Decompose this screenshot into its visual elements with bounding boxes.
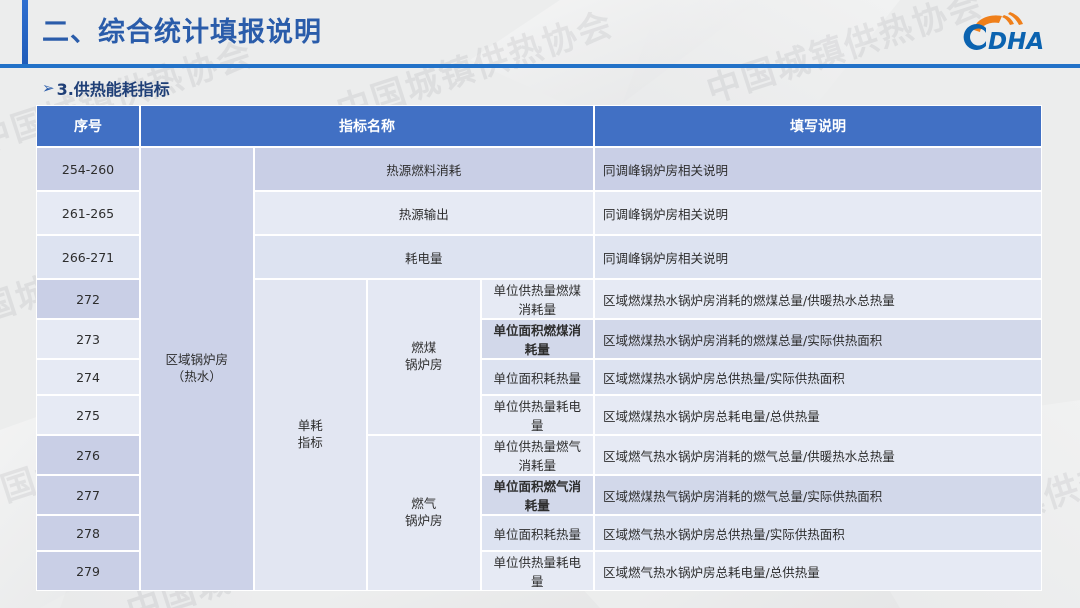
column-header-no: 序号 (36, 105, 140, 147)
table-header-row: 序号 指标名称 填写说明 (36, 105, 1042, 147)
cell-desc: 区域燃气热水锅炉房总耗电量/总供热量 (594, 551, 1042, 591)
cell-no: 275 (36, 395, 140, 435)
cell-desc: 区域燃煤热水锅炉房消耗的燃煤总量/供暖热水总热量 (594, 279, 1042, 319)
cdha-logo: DHA (942, 8, 1062, 58)
section-heading: ➢ 3.供热能耗指标 (42, 76, 170, 100)
cell-group-coal-boiler: 燃煤锅炉房 (367, 279, 481, 435)
cell-name: 单位面积耗热量 (481, 515, 595, 551)
cell-name: 单位供热量燃煤消耗量 (481, 279, 595, 319)
energy-indicator-table: 序号 指标名称 填写说明 254-260 区域锅炉房（热水） 热源燃料消耗 同调… (36, 105, 1042, 591)
cell-desc: 区域燃煤热水锅炉房总耗电量/总供热量 (594, 395, 1042, 435)
cell-desc-highlighted: 区域燃煤热水锅炉房消耗的燃煤总量/实际供热面积 (594, 319, 1042, 359)
arrow-bullet-icon: ➢ (42, 81, 55, 96)
cell-desc: 同调峰锅炉房相关说明 (594, 235, 1042, 279)
column-header-desc: 填写说明 (594, 105, 1042, 147)
cell-desc: 区域燃气热水锅炉房总供热量/实际供热面积 (594, 515, 1042, 551)
cell-name: 热源燃料消耗 (254, 147, 595, 191)
cell-group-unit-consumption: 单耗指标 (254, 279, 368, 591)
logo-wordmark: DHA (988, 29, 1044, 55)
cell-no: 279 (36, 551, 140, 591)
cell-name: 热源输出 (254, 191, 595, 235)
title-accent-bar (22, 0, 28, 68)
cell-no: 261-265 (36, 191, 140, 235)
cell-no: 276 (36, 435, 140, 475)
cell-group-gas-boiler: 燃气锅炉房 (367, 435, 481, 591)
table-row: 254-260 区域锅炉房（热水） 热源燃料消耗 同调峰锅炉房相关说明 (36, 147, 1042, 191)
energy-indicator-table-wrapper: 序号 指标名称 填写说明 254-260 区域锅炉房（热水） 热源燃料消耗 同调… (36, 105, 1042, 591)
cell-name: 单位供热量耗电量 (481, 551, 595, 591)
cell-name: 单位供热量耗电量 (481, 395, 595, 435)
cell-name-highlighted: 单位面积燃煤消耗量 (481, 319, 595, 359)
cell-no: 278 (36, 515, 140, 551)
slide-header: 二、综合统计填报说明 (0, 0, 1080, 70)
column-header-name: 指标名称 (140, 105, 594, 147)
cell-no: 273 (36, 319, 140, 359)
cell-name: 单位供热量燃气消耗量 (481, 435, 595, 475)
cell-no: 266-271 (36, 235, 140, 279)
cell-desc: 同调峰锅炉房相关说明 (594, 191, 1042, 235)
cell-no: 277 (36, 475, 140, 515)
section-heading-label: 3.供热能耗指标 (57, 76, 170, 100)
cell-desc: 同调峰锅炉房相关说明 (594, 147, 1042, 191)
cell-no: 274 (36, 359, 140, 395)
page-title: 二、综合统计填报说明 (42, 10, 322, 49)
cell-desc: 区域燃煤热水锅炉房总供热量/实际供热面积 (594, 359, 1042, 395)
cell-no: 272 (36, 279, 140, 319)
cell-desc-highlighted: 区域燃煤热气锅炉房消耗的燃气总量/实际供热面积 (594, 475, 1042, 515)
cell-name: 耗电量 (254, 235, 595, 279)
cell-desc: 区域燃气热水锅炉房消耗的燃气总量/供暖热水总热量 (594, 435, 1042, 475)
cell-group-region-boiler: 区域锅炉房（热水） (140, 147, 254, 591)
cell-name: 单位面积耗热量 (481, 359, 595, 395)
cell-name-highlighted: 单位面积燃气消耗量 (481, 475, 595, 515)
header-divider-rule (0, 64, 1080, 68)
cell-no: 254-260 (36, 147, 140, 191)
